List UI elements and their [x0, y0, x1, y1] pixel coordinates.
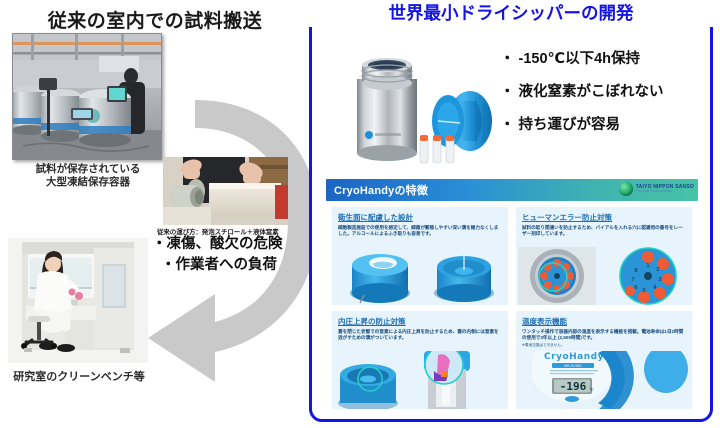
new-product-panel: ・ -150℃以下4h保持 ・ 液化窒素がこぼれない ・ 持ち運びが容易 Cry…	[309, 4, 713, 422]
feature-card-pressure: 内圧上昇の防止対策 蓋を閉じた状態での窒素による内圧上昇を防止するため、蓋の内側…	[332, 311, 508, 409]
freezer-room-caption: 試料が保存されている 大型凍結保存容器	[8, 163, 168, 189]
freezer-room-photo	[12, 33, 162, 160]
brochure-title: CryoHandyの特徴	[334, 182, 428, 198]
feature-card-hygiene: 衛生面に配慮した設計 細胞製造施設での使用を想定して、細菌が繁殖しやすい深い溝を…	[332, 207, 508, 305]
freezer-caption-line1: 試料が保存されている	[8, 163, 168, 176]
temperature-unit-text: ℃	[589, 387, 594, 392]
risk-item: ・凍傷、酸欠の危険	[152, 234, 304, 255]
styrofoam-transport-photo	[163, 157, 288, 225]
right-panel-title: 世界最小ドライシッパーの開発	[309, 0, 713, 27]
risk-item: ・作業者への負荷	[152, 255, 304, 276]
feature-title: 衛生面に配慮した設計	[338, 212, 508, 223]
human-error-illustration: 12 34 56 78	[516, 247, 692, 305]
svg-text:5: 5	[642, 288, 646, 294]
freezer-caption-line2: 大型凍結保存容器	[8, 176, 168, 189]
hygiene-illustration	[332, 247, 508, 305]
feature-title: ヒューマンエラー防止対策	[522, 212, 692, 223]
device-model-text: MR-IV-500	[564, 364, 581, 368]
feature-title: 温度表示機能	[522, 316, 692, 327]
feature-note: ※電池交換はできません。	[522, 343, 686, 348]
temperature-value-text: -196	[560, 380, 587, 393]
benefit-item: ・ 液化窒素がこぼれない	[500, 84, 710, 101]
benefit-item: ・ -150℃以下4h保持	[500, 51, 710, 68]
conventional-workflow-panel: 従来の室内での試料搬送	[0, 0, 306, 428]
svg-text:4: 4	[653, 285, 657, 291]
svg-text:3: 3	[658, 277, 662, 283]
pressure-illustration	[332, 351, 508, 409]
clean-bench-photo	[8, 238, 148, 363]
feature-title: 内圧上昇の防止対策	[338, 316, 508, 327]
slide-canvas: 従来の室内での試料搬送	[0, 0, 720, 428]
clean-bench-caption: 研究室のクリーンベンチ等	[0, 368, 158, 384]
temperature-display-illustration: CryoHandy MR-IV-500 -196 ℃	[516, 351, 692, 409]
brand-tagline: The Gas Professionals	[636, 190, 694, 193]
feature-body: 細胞製造施設での使用を想定して、細菌が繁殖しやすい深い溝を極力なくしました。アル…	[338, 225, 502, 238]
feature-card-temperature: 温度表示機能 ワンタッチ操作で容器内部の温度を表示する機能を搭載。電池寿命は1日…	[516, 311, 692, 409]
left-panel-title: 従来の室内での試料搬送	[30, 6, 280, 33]
benefit-item: ・ 持ち運びが容易	[500, 117, 710, 134]
globe-icon	[619, 182, 633, 196]
svg-text:1: 1	[646, 263, 650, 269]
benefits-list: ・ -150℃以下4h保持 ・ 液化窒素がこぼれない ・ 持ち運びが容易	[500, 51, 710, 150]
feature-card-human-error: ヒューマンエラー防止対策 試料の取り間違いを防止するため、バイアルを入れる穴に認…	[516, 207, 692, 305]
risk-list: ・凍傷、酸欠の危険 ・作業者への負荷	[152, 234, 304, 276]
device-brand-text: CryoHandy	[544, 352, 604, 362]
svg-text:8: 8	[634, 268, 638, 274]
cryohandy-brochure: CryoHandyの特徴 TAIYO NIPPON SANSO The Gas …	[326, 179, 698, 413]
svg-text:2: 2	[656, 267, 660, 273]
feature-body: ワンタッチ操作で容器内部の温度を表示する機能を搭載。電池寿命は1日2時間の使用で…	[522, 329, 686, 342]
svg-text:6: 6	[634, 285, 638, 291]
dry-shipper-product-photo	[342, 49, 512, 174]
feature-body: 蓋を閉じた状態での窒素による内圧上昇を防止するため、蓋の内側には窒素を逃がすため…	[338, 329, 502, 342]
feature-body: 試料の取り間違いを防止するため、バイアルを入れる穴に認識用の番号をレーザー刻印し…	[522, 225, 686, 238]
taiyo-nippon-sanso-logo: TAIYO NIPPON SANSO The Gas Professionals	[619, 181, 694, 197]
svg-text:7: 7	[631, 277, 635, 283]
